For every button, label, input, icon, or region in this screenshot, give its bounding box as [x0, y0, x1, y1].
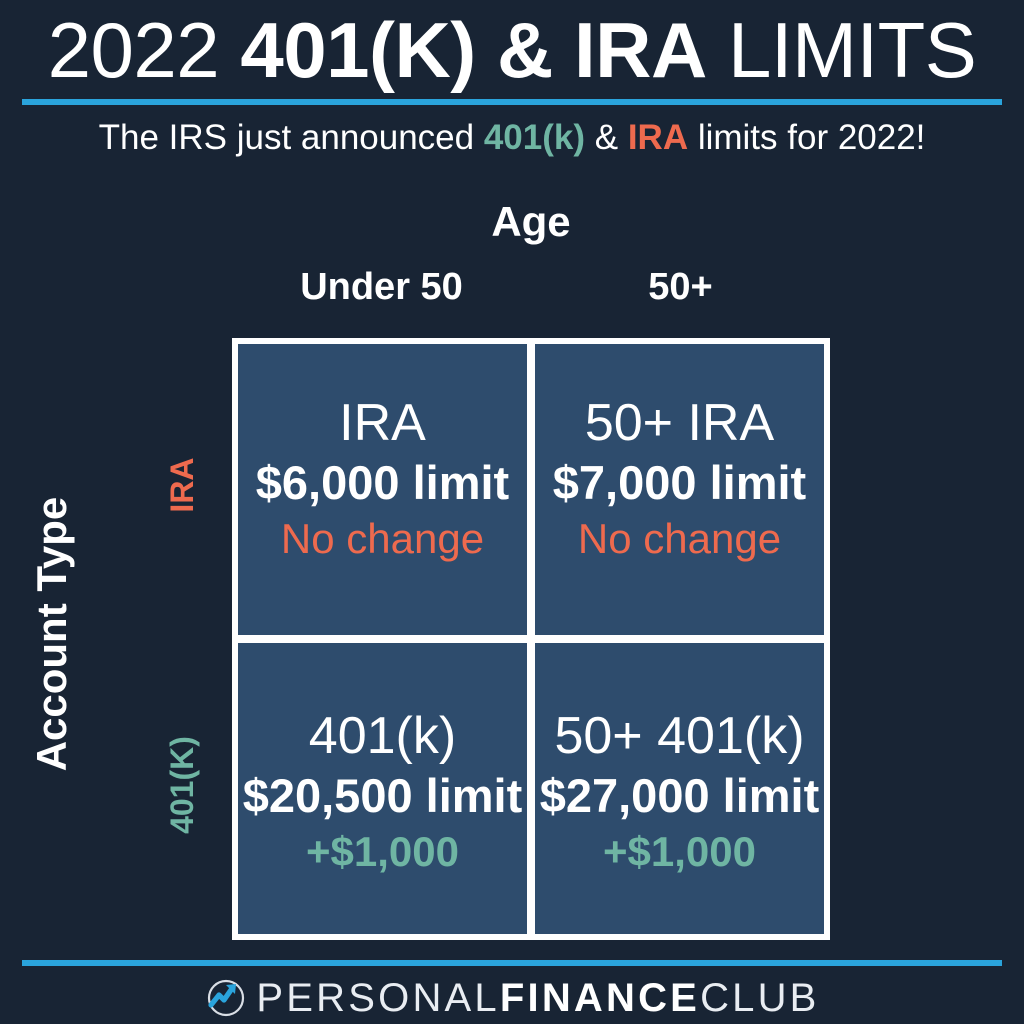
cell-change-note: +$1,000: [238, 825, 527, 879]
column-header-under-50: Under 50: [232, 262, 531, 312]
cell-change-note: +$1,000: [535, 825, 824, 879]
subtitle-ira-highlight: IRA: [628, 118, 688, 157]
brand-word-club: CLUB: [700, 976, 820, 1020]
subtitle-lead: The IRS just announced: [99, 118, 484, 157]
cell-account-name: IRA: [238, 392, 527, 454]
cell-account-name: 50+ 401(k): [535, 705, 824, 767]
matrix-cell-ira-50-plus[interactable]: 50+ IRA $7,000 limit No change: [535, 344, 824, 635]
cell-account-name: 401(k): [238, 705, 527, 767]
brand-logo: PERSONALFINANCECLUB: [0, 972, 1024, 1024]
subtitle-401k-highlight: 401(k): [484, 118, 585, 157]
matrix-cell-401k-50-plus[interactable]: 50+ 401(k) $27,000 limit +$1,000: [535, 643, 824, 934]
header: 2022 401(K) & IRA LIMITS The IRS just an…: [0, 0, 1024, 172]
cell-change-note: No change: [238, 512, 527, 566]
row-header-ira: IRA: [162, 395, 202, 575]
page-title-year: 2022: [48, 6, 241, 94]
cell-limit-amount: $7,000 limit: [535, 454, 824, 512]
brand-logo-text: PERSONALFINANCECLUB: [256, 974, 819, 1022]
limits-matrix: IRA $6,000 limit No change 50+ IRA $7,00…: [232, 338, 830, 940]
row-header-401k: 401(K): [162, 685, 202, 885]
matrix-cell-401k-under-50[interactable]: 401(k) $20,500 limit +$1,000: [238, 643, 527, 934]
page-title: 2022 401(K) & IRA LIMITS: [0, 4, 1024, 96]
cell-change-note: No change: [535, 512, 824, 566]
page-title-emphasis: 401(K) & IRA: [240, 6, 706, 94]
circle-upward-trend-arrow-icon: [204, 974, 250, 1020]
subtitle-ampersand: &: [585, 118, 628, 157]
matrix-cell-ira-under-50[interactable]: IRA $6,000 limit No change: [238, 344, 527, 635]
footer-divider: [22, 960, 1002, 966]
column-axis-title: Age: [232, 196, 830, 248]
page-title-tail: LIMITS: [707, 6, 977, 94]
subtitle-tail: limits for 2022!: [688, 118, 925, 157]
cell-limit-amount: $27,000 limit: [535, 767, 824, 825]
brand-word-finance: FINANCE: [500, 976, 700, 1020]
column-header-row: Under 50 50+: [232, 262, 830, 312]
column-header-50-plus: 50+: [531, 262, 830, 312]
cell-limit-amount: $20,500 limit: [238, 767, 527, 825]
cell-account-name: 50+ IRA: [535, 392, 824, 454]
cell-limit-amount: $6,000 limit: [238, 454, 527, 512]
page-subtitle: The IRS just announced 401(k) & IRA limi…: [0, 115, 1024, 161]
header-divider: [22, 99, 1002, 105]
row-axis-title: Account Type: [26, 434, 78, 834]
brand-word-personal: PERSONAL: [256, 976, 499, 1020]
